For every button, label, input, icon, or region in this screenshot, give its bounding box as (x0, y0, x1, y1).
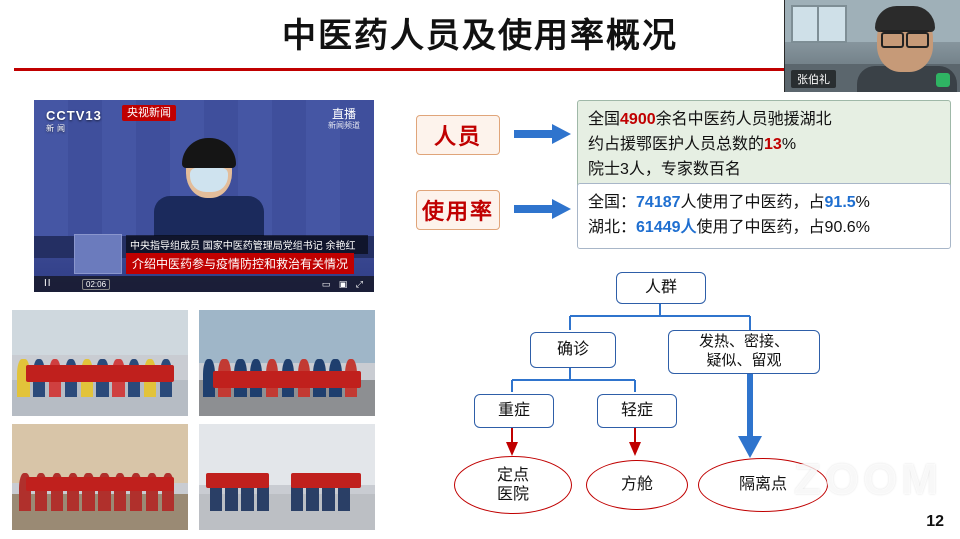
highlight-number: 91.5 (825, 194, 856, 211)
webcam-window (791, 5, 847, 43)
cctv-channel-sub: 新闻 (46, 123, 102, 134)
text-span: % (856, 219, 870, 236)
flow-node-fangcang: 方舱 (586, 460, 688, 510)
cctv-channel-text: CCTV (46, 108, 85, 123)
callout-tag-usage-rate: 使用率 (416, 190, 500, 230)
participant-name-label: 张伯礼 (791, 70, 836, 88)
live-sub: 新闻频道 (328, 121, 360, 131)
list-item (199, 310, 375, 416)
flow-node-confirmed: 确诊 (530, 332, 616, 368)
flow-node-suspected: 发热、密接、 疑似、留观 (668, 330, 820, 374)
callout-line: 全国4900余名中医药人员驰援湖北 (588, 108, 940, 133)
text-span: 使用了中医药，占 (697, 219, 825, 236)
text-span: 约占援鄂医护人员总数的 (588, 136, 764, 153)
video-timecode: 02:06 (82, 279, 110, 290)
video-controls-right-icons[interactable]: ▭ ▣ ⤢ (322, 279, 366, 290)
photo-red-banner (26, 365, 174, 382)
photo-background (12, 310, 188, 355)
photo-red-banner (213, 371, 361, 388)
callout-tag-personnel: 人员 (416, 115, 500, 155)
highlight-number: 13 (764, 136, 782, 153)
slide-root: 中医药人员及使用率概况 张伯礼 CCTV13 新闻 央视新闻 直播 新闻频道 中… (0, 0, 960, 539)
press-conference-video-still[interactable]: CCTV13 新闻 央视新闻 直播 新闻频道 中央指导组成员 国家中医药管理局党… (34, 100, 374, 292)
video-inset-thumbnail (74, 234, 122, 274)
callout-line: 湖北：61449人使用了中医药，占90.6% (588, 216, 940, 241)
text-span: % (782, 136, 796, 153)
right-arrow-icon (514, 122, 572, 146)
flow-node-designated-hospital: 定点 医院 (454, 456, 572, 514)
live-badge: 直播 新闻频道 (328, 107, 360, 131)
highlight-number: 74187 (636, 194, 681, 211)
text-span: 余名中医药人员驰援湖北 (656, 111, 832, 128)
cctv-channel-logo: CCTV13 新闻 (46, 108, 102, 134)
cctv-channel-number: 13 (85, 108, 101, 123)
callout-line: 全国：74187人使用了中医药，占91.5% (588, 191, 940, 216)
photo-red-banner (206, 473, 269, 488)
highlight-number: 4900 (620, 111, 656, 128)
right-arrow-icon (514, 197, 572, 221)
callout-line: 院士3人，专家数百名 (588, 158, 940, 183)
presenter-webcam-tile[interactable]: 张伯礼 (784, 0, 960, 92)
page-number: 12 (926, 513, 944, 531)
presenter-hair (875, 6, 935, 32)
callout-box-personnel: 全国4900余名中医药人员驰援湖北 约占援鄂医护人员总数的13% 院士3人，专家… (577, 100, 951, 190)
flow-node-mild: 轻症 (597, 394, 677, 428)
list-item (12, 424, 188, 530)
photo-background (199, 310, 375, 363)
highlight-number: 61449 (636, 219, 681, 236)
video-headline: 介绍中医药参与疫情防控和救治有关情况 (126, 253, 354, 274)
video-lower-third: 中央指导组成员 国家中医药管理局党组书记 余艳红 (126, 235, 368, 254)
flow-node-population: 人群 (616, 272, 706, 304)
text-span: 90.6 (825, 219, 856, 236)
callout-box-usage-rate: 全国：74187人使用了中医药，占91.5% 湖北：61449人使用了中医药，占… (577, 183, 951, 249)
cctv-news-badge: 央视新闻 (122, 105, 176, 121)
pause-icon[interactable]: II (44, 278, 52, 289)
text-span: 湖北： (588, 219, 636, 236)
text-span: 全国 (588, 111, 620, 128)
glasses-icon (881, 30, 929, 44)
photo-red-banner (26, 477, 174, 491)
flow-node-severe: 重症 (474, 394, 554, 428)
microphone-icon[interactable] (936, 73, 950, 87)
text-span: 人使用了中医药，占 (681, 194, 825, 211)
callout-line: 约占援鄂医护人员总数的13% (588, 133, 940, 158)
photo-red-banner (291, 473, 361, 488)
list-item (199, 424, 375, 530)
live-label: 直播 (332, 107, 356, 121)
list-item (12, 310, 188, 416)
text-span: % (856, 194, 870, 211)
zoom-watermark: ZOOM (794, 455, 942, 505)
text-span: 全国： (588, 194, 636, 211)
highlight-number: 人 (681, 219, 697, 236)
